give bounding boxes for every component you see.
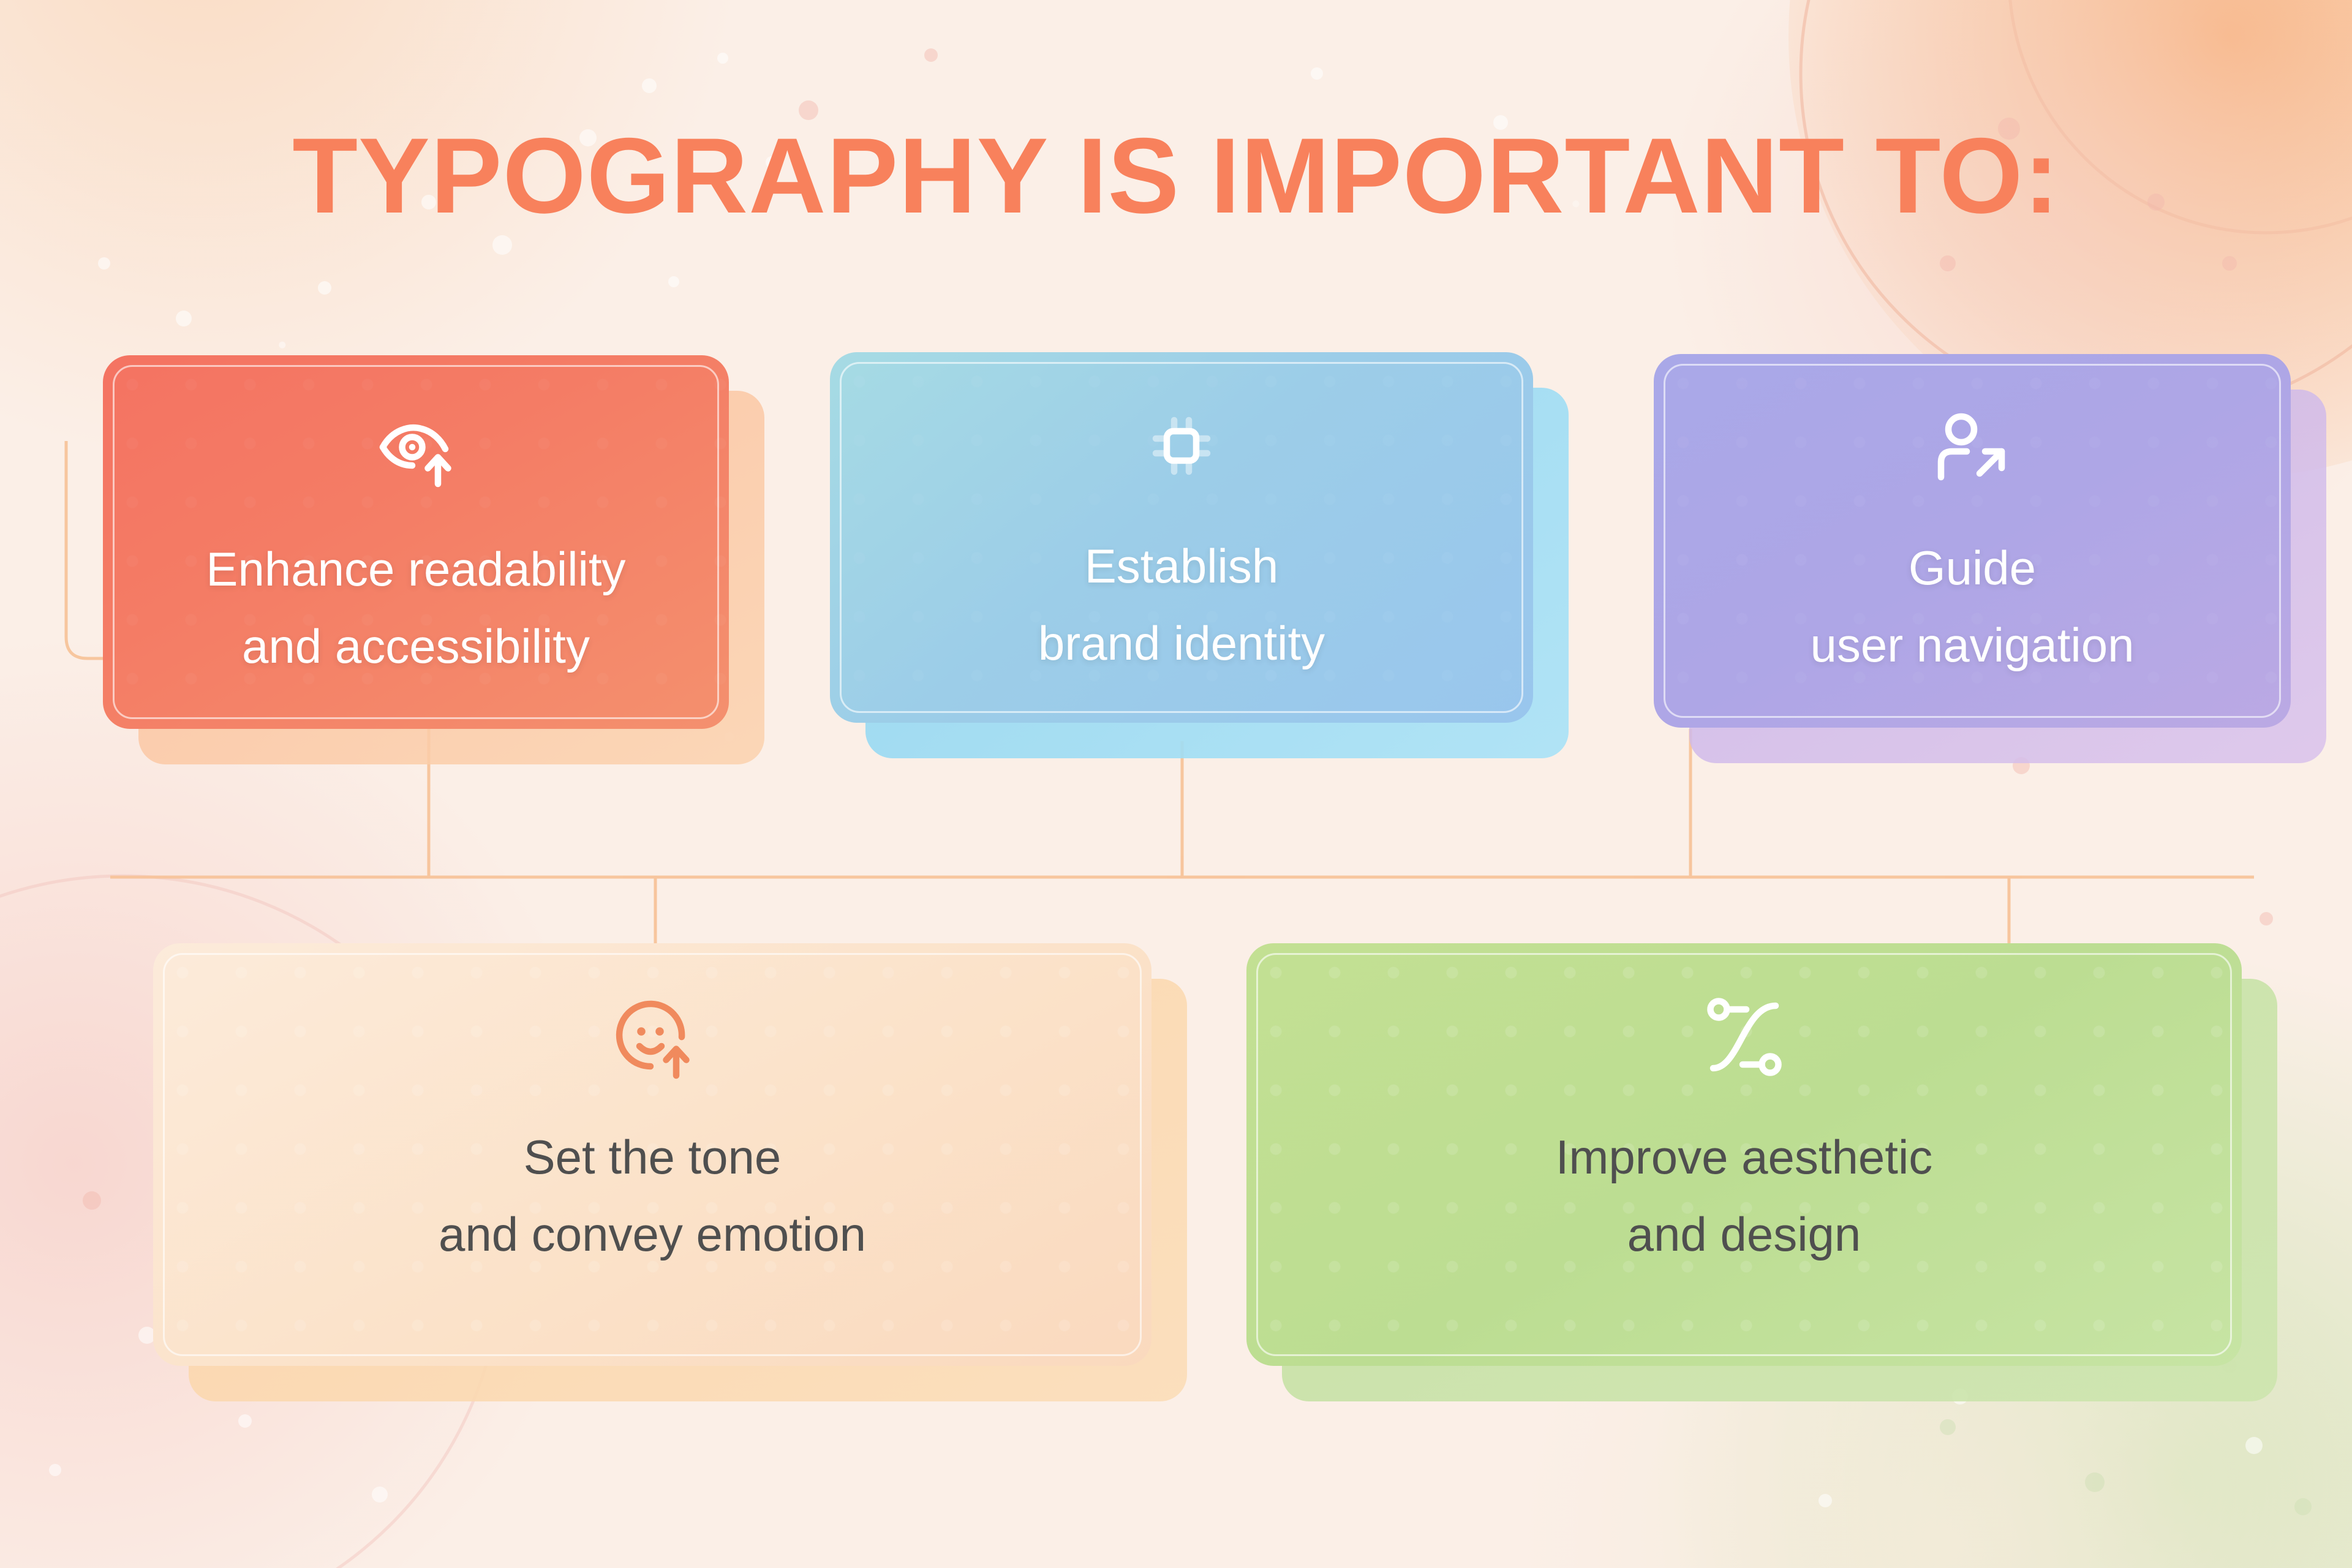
user-arrow-icon	[1926, 402, 2018, 494]
card-line-1: Improve aesthetic	[1556, 1118, 1933, 1196]
page-title: TYPOGRAPHY IS IMPORTANT TO:	[0, 123, 2352, 230]
card-surface[interactable]: Set the tone and convey emotion	[153, 943, 1151, 1366]
card-line-2: user navigation	[1810, 606, 2134, 684]
card-improve-aesthetic[interactable]: Improve aesthetic and design	[1246, 943, 2242, 1366]
eye-arrow-up-icon	[370, 403, 462, 495]
bezier-curve-icon	[1698, 991, 1790, 1083]
card-surface[interactable]: Establish brand identity	[830, 352, 1533, 723]
card-line-2: brand identity	[1038, 605, 1325, 682]
card-line-2: and convey emotion	[439, 1196, 866, 1273]
card-enhance-readability[interactable]: Enhance readability and accessibility	[103, 355, 729, 729]
card-text: Enhance readability and accessibility	[206, 530, 625, 685]
card-establish-brand-identity[interactable]: Establish brand identity	[830, 352, 1533, 723]
card-line-2: and design	[1556, 1196, 1933, 1273]
card-text: Set the tone and convey emotion	[439, 1118, 866, 1273]
card-surface[interactable]: Improve aesthetic and design	[1246, 943, 2242, 1366]
card-line-1: Set the tone	[439, 1118, 866, 1196]
page-header: TYPOGRAPHY IS IMPORTANT TO:	[0, 123, 2352, 230]
card-text: Establish brand identity	[1038, 527, 1325, 682]
card-line-1: Enhance readability	[206, 530, 625, 608]
chip-icon	[1136, 400, 1227, 492]
card-text: Improve aesthetic and design	[1556, 1118, 1933, 1273]
card-line-2: and accessibility	[206, 608, 625, 685]
card-guide-user-navigation[interactable]: Guide user navigation	[1654, 354, 2291, 728]
smiley-arrow-up-icon	[606, 991, 698, 1083]
card-set-the-tone[interactable]: Set the tone and convey emotion	[153, 943, 1151, 1366]
card-surface[interactable]: Enhance readability and accessibility	[103, 355, 729, 729]
card-surface[interactable]: Guide user navigation	[1654, 354, 2291, 728]
card-line-1: Guide	[1810, 529, 2134, 606]
card-text: Guide user navigation	[1810, 529, 2134, 684]
card-line-1: Establish	[1038, 527, 1325, 605]
